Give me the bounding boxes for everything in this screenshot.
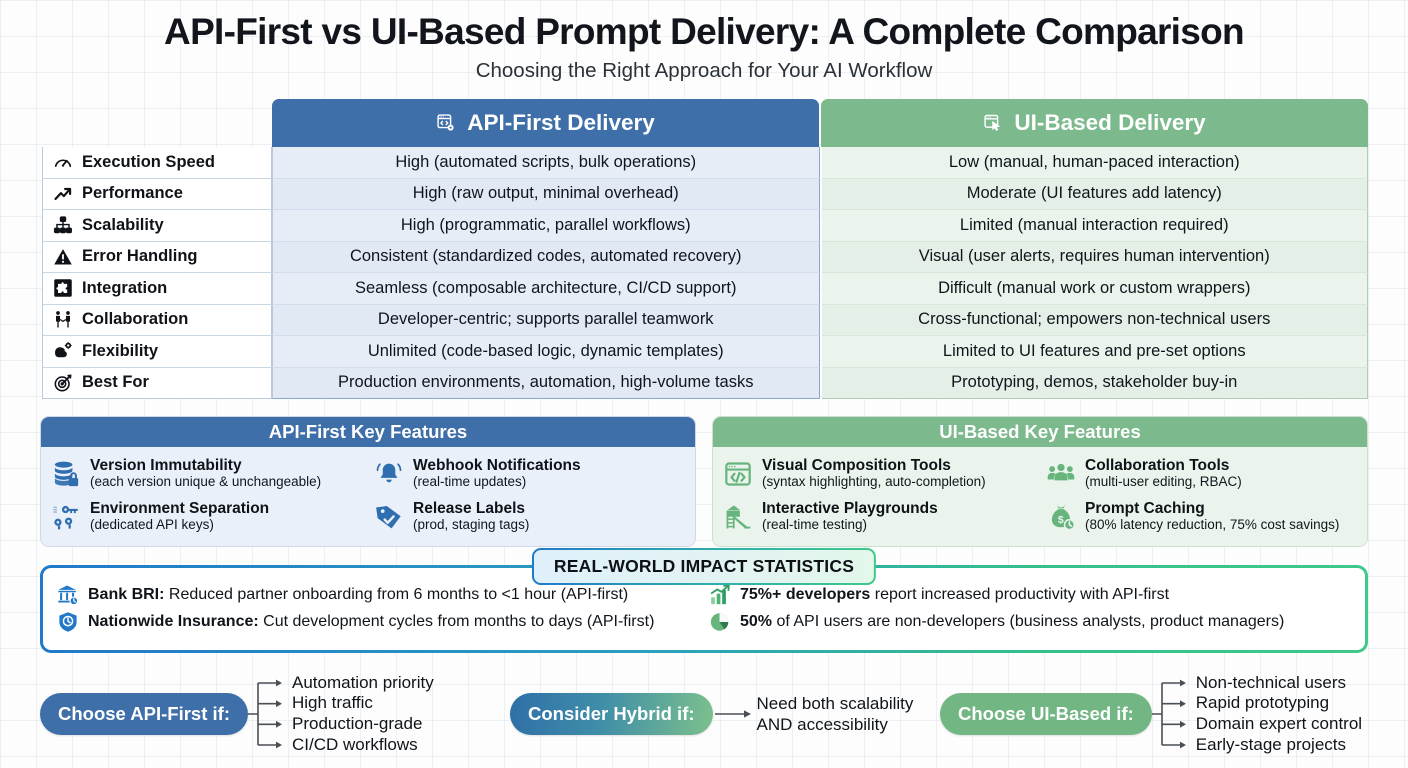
impact-statistics-section: REAL-WORLD IMPACT STATISTICS: [40, 565, 1368, 653]
feature-item: Release Labels (prod, staging tags): [374, 500, 687, 534]
cell-ui: Visual (user alerts, requires human inte…: [822, 242, 1369, 274]
row-label-text: Scalability: [82, 216, 164, 235]
feature-title: Release Labels: [413, 500, 529, 517]
row-label-best-for: Best For: [42, 368, 272, 400]
money-bag-clock-icon: $: [1046, 500, 1076, 534]
row-label-text: Error Handling: [82, 247, 198, 266]
bell-icon: [374, 457, 404, 491]
feature-sub: (real-time testing): [762, 517, 938, 532]
panel-api-body: Version Immutability (each version uniqu…: [41, 447, 695, 546]
feature-title: Interactive Playgrounds: [762, 500, 938, 517]
cell-api: Consistent (standardized codes, automate…: [272, 242, 820, 274]
choose-ui-based-pill[interactable]: Choose UI-Based if:: [940, 693, 1152, 735]
feature-sub: (dedicated API keys): [90, 517, 269, 532]
feature-title: Visual Composition Tools: [762, 457, 986, 474]
list-item: CI/CD workflows: [292, 735, 434, 756]
row-label-text: Best For: [82, 373, 149, 392]
feature-title: Webhook Notifications: [413, 457, 581, 474]
list-item: Production-grade: [292, 714, 434, 735]
impact-statistics-badge: REAL-WORLD IMPACT STATISTICS: [532, 548, 876, 585]
stat-text: of API users are non-developers (busines…: [772, 613, 1284, 630]
keys-icon: [51, 500, 81, 534]
stat-line: Bank BRI: Reduced partner onboarding fro…: [57, 584, 699, 606]
feature-title: Version Immutability: [90, 457, 321, 474]
row-label-text: Integration: [82, 279, 167, 298]
cell-ui: Moderate (UI features add latency): [822, 179, 1369, 211]
feature-item: Visual Composition Tools (syntax highlig…: [723, 457, 1036, 491]
api-first-criteria-list: Automation priority High traffic Product…: [292, 673, 434, 755]
feature-title: Collaboration Tools: [1085, 457, 1242, 474]
pie-chart-icon: [709, 611, 731, 633]
cell-ui: Limited (manual interaction required): [822, 210, 1369, 242]
feature-item: Version Immutability (each version uniqu…: [51, 457, 364, 491]
cell-ui: Low (manual, human-paced interaction): [822, 147, 1369, 179]
svg-text:$: $: [1058, 514, 1064, 526]
row-label-integration: Integration: [42, 273, 272, 305]
table-header-api-first: API-First Delivery: [272, 99, 819, 147]
list-item: Non-technical users: [1196, 673, 1362, 694]
people-group-icon: [1046, 457, 1076, 491]
feature-item: Interactive Playgrounds (real-time testi…: [723, 500, 1036, 534]
browser-cursor-icon: [983, 113, 1003, 133]
list-item: Automation priority: [292, 673, 434, 694]
row-label-execution-speed: Execution Speed: [42, 147, 272, 179]
feature-title: Environment Separation: [90, 500, 269, 517]
ui-based-criteria-list: Non-technical users Rapid prototyping Do…: [1196, 673, 1362, 755]
code-window-icon: [723, 457, 753, 491]
table-row: Collaboration Developer-centric; support…: [42, 305, 1368, 337]
list-item: Domain expert control: [1196, 714, 1362, 735]
playground-slide-icon: [723, 500, 753, 534]
shield-clock-icon: [57, 611, 79, 633]
list-item: AND accessibility: [757, 714, 914, 735]
decision-group-api-first: Choose API-First if: Automation priority…: [40, 664, 510, 764]
decision-group-hybrid: Consider Hybrid if: Need both scalabilit…: [510, 664, 940, 764]
hybrid-criteria-list: Need both scalability AND accessibility: [757, 693, 914, 735]
cell-api: Production environments, automation, hig…: [272, 368, 820, 400]
trending-up-icon: [53, 184, 73, 204]
stat-text: Cut development cycles from months to da…: [259, 613, 655, 630]
branch-connector-ui-based: [1152, 671, 1196, 757]
feature-title: Prompt Caching: [1085, 500, 1339, 517]
feature-sub: (prod, staging tags): [413, 517, 529, 532]
cell-ui: Cross-functional; empowers non-technical…: [822, 305, 1369, 337]
row-label-performance: Performance: [42, 179, 272, 211]
puzzle-piece-icon: [53, 278, 73, 298]
decision-group-ui-based: Choose UI-Based if: Non-technical users …: [940, 664, 1380, 764]
table-header-ui-based-label: UI-Based Delivery: [1014, 110, 1205, 136]
list-item: Need both scalability: [757, 693, 914, 714]
cell-api: High (automated scripts, bulk operations…: [272, 147, 820, 179]
feature-sub: (syntax highlighting, auto-completion): [762, 474, 986, 489]
table-row: Error Handling Consistent (standardized …: [42, 242, 1368, 274]
table-header-ui-based: UI-Based Delivery: [821, 99, 1368, 147]
feature-item: Webhook Notifications (real-time updates…: [374, 457, 687, 491]
key-features-section: API-First Key Features: [40, 416, 1368, 547]
page-title: API-First vs UI-Based Prompt Delivery: A…: [0, 0, 1408, 53]
stat-line: 75%+ developers report increased product…: [709, 584, 1351, 606]
cell-api: Unlimited (code-based logic, dynamic tem…: [272, 336, 820, 368]
cell-api: Developer-centric; supports parallel tea…: [272, 305, 820, 337]
feature-sub: (real-time updates): [413, 474, 581, 489]
table-row: Flexibility Unlimited (code-based logic,…: [42, 336, 1368, 368]
feature-item: Environment Separation (dedicated API ke…: [51, 500, 364, 534]
feature-item: Collaboration Tools (multi-user editing,…: [1046, 457, 1359, 491]
stat-line: Nationwide Insurance: Cut development cy…: [57, 611, 699, 633]
flexed-arm-gear-icon: [53, 341, 73, 361]
branch-connector-hybrid: [713, 699, 757, 729]
table-header-row: API-First Delivery UI-Based Delivery: [42, 99, 1368, 147]
table-header-spacer: [42, 99, 272, 147]
impact-stats-right-column: 75%+ developers report increased product…: [699, 584, 1351, 633]
sitemap-icon: [53, 215, 73, 235]
panel-api-title: API-First Key Features: [41, 417, 695, 447]
panel-ui-body: Visual Composition Tools (syntax highlig…: [713, 447, 1367, 546]
feature-sub: (multi-user editing, RBAC): [1085, 474, 1242, 489]
cell-api: High (raw output, minimal overhead): [272, 179, 820, 211]
panel-ui-based-key-features: UI-Based Key Features V: [712, 416, 1368, 547]
list-item: Early-stage projects: [1196, 735, 1362, 756]
impact-stats-left-column: Bank BRI: Reduced partner onboarding fro…: [57, 584, 699, 633]
list-item: Rapid prototyping: [1196, 693, 1362, 714]
row-label-error-handling: Error Handling: [42, 242, 272, 274]
impact-statistics-box: REAL-WORLD IMPACT STATISTICS: [40, 565, 1368, 653]
cell-ui: Limited to UI features and pre-set optio…: [822, 336, 1369, 368]
row-label-collaboration: Collaboration: [42, 305, 272, 337]
database-lock-icon: [51, 457, 81, 491]
row-label-flexibility: Flexibility: [42, 336, 272, 368]
consider-hybrid-pill[interactable]: Consider Hybrid if:: [510, 693, 713, 735]
cell-api: Seamless (composable architecture, CI/CD…: [272, 273, 820, 305]
table-header-api-first-label: API-First Delivery: [467, 110, 655, 136]
decision-guidance-section: Choose API-First if: Automation priority…: [40, 664, 1380, 764]
stat-text: report increased productivity with API-f…: [870, 586, 1169, 603]
comparison-table: API-First Delivery UI-Based Delivery: [42, 99, 1368, 399]
table-row: Integration Seamless (composable archite…: [42, 273, 1368, 305]
stat-text: Reduced partner onboarding from 6 months…: [164, 586, 628, 603]
cell-api: High (programmatic, parallel workflows): [272, 210, 820, 242]
bank-clock-icon: [57, 584, 79, 606]
cell-ui: Prototyping, demos, stakeholder buy-in: [822, 368, 1369, 400]
stat-bold: 75%+ developers: [740, 586, 870, 603]
row-label-text: Collaboration: [82, 310, 188, 329]
code-window-gear-icon: [436, 113, 456, 133]
choose-api-first-pill[interactable]: Choose API-First if:: [40, 693, 248, 735]
stat-bold: Bank BRI:: [88, 586, 164, 603]
stat-bold: 50%: [740, 613, 772, 630]
cell-ui: Difficult (manual work or custom wrapper…: [822, 273, 1369, 305]
row-label-text: Flexibility: [82, 342, 158, 361]
table-row: Best For Production environments, automa…: [42, 368, 1368, 400]
row-label-text: Performance: [82, 184, 183, 203]
stat-bold: Nationwide Insurance:: [88, 613, 259, 630]
row-label-scalability: Scalability: [42, 210, 272, 242]
infographic-root: API-First vs UI-Based Prompt Delivery: A…: [0, 0, 1408, 768]
target-icon: [53, 373, 73, 393]
warning-triangle-icon: [53, 247, 73, 267]
row-label-text: Execution Speed: [82, 153, 215, 172]
stat-line: 50% of API users are non-developers (bus…: [709, 611, 1351, 633]
branch-connector-api-first: [248, 671, 292, 757]
feature-sub: (80% latency reduction, 75% cost savings…: [1085, 517, 1339, 532]
tag-check-icon: [374, 500, 404, 534]
list-item: High traffic: [292, 693, 434, 714]
panel-api-first-key-features: API-First Key Features: [40, 416, 696, 547]
bar-chart-up-icon: [709, 584, 731, 606]
table-row: Performance High (raw output, minimal ov…: [42, 179, 1368, 211]
table-row: Execution Speed High (automated scripts,…: [42, 147, 1368, 179]
speedometer-icon: [53, 152, 73, 172]
handshake-icon: [53, 310, 73, 330]
table-row: Scalability High (programmatic, parallel…: [42, 210, 1368, 242]
panel-ui-title: UI-Based Key Features: [713, 417, 1367, 447]
feature-item: $ Prompt Caching (80% latency reduction,…: [1046, 500, 1359, 534]
page-subtitle: Choosing the Right Approach for Your AI …: [0, 53, 1408, 83]
feature-sub: (each version unique & unchangeable): [90, 474, 321, 489]
